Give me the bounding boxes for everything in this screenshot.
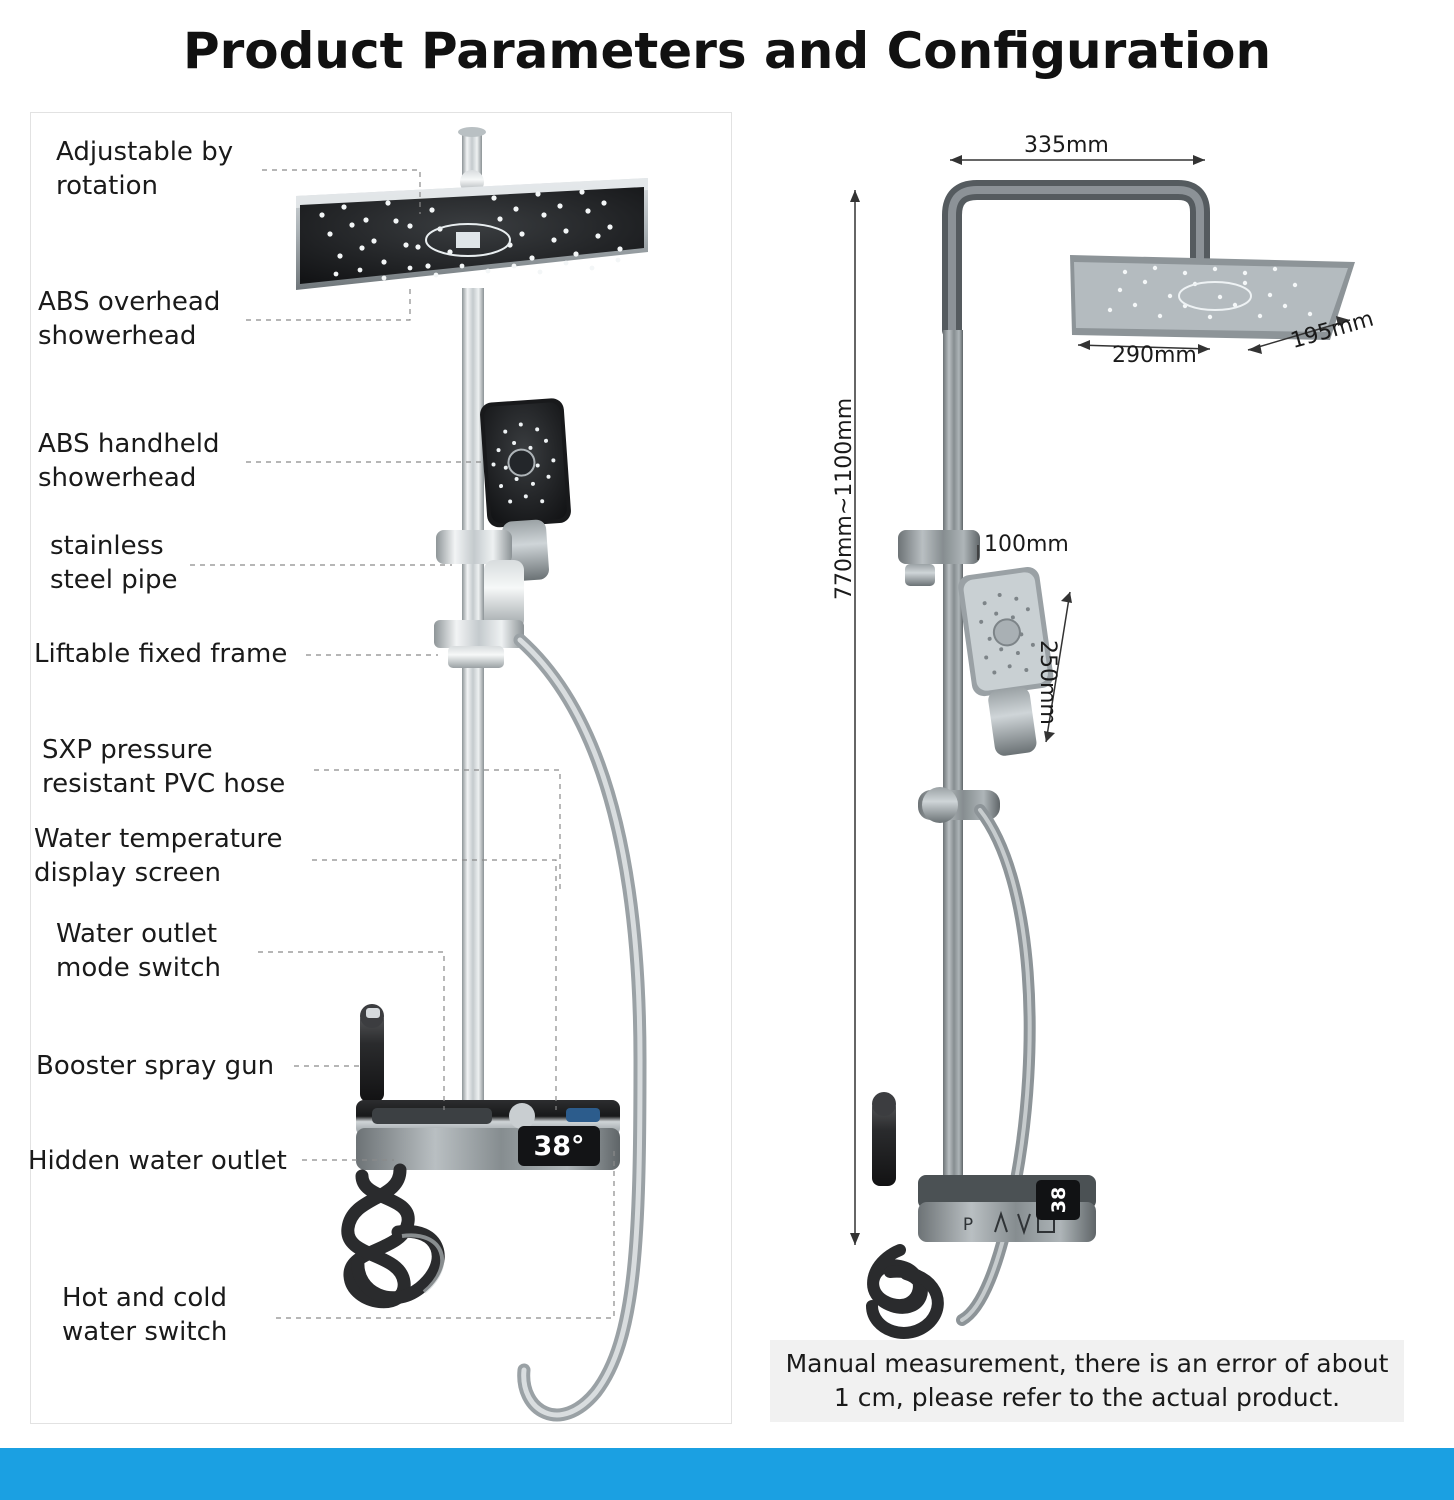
dimension-overhead-head-depth: 195mm (1288, 307, 1376, 354)
page-title: Product Parameters and Configuration (0, 22, 1454, 80)
callout-booster-spray-gun: Booster spray gun (36, 1050, 306, 1084)
dimension-total-height-range: 770mm~1100mm (832, 398, 857, 600)
callout-hidden-water-outlet: Hidden water outlet (28, 1145, 308, 1179)
measurement-note: Manual measurement, there is an error of… (770, 1340, 1404, 1422)
dimension-overhead-arm-reach: 335mm (1024, 133, 1109, 158)
measurement-note-text: Manual measurement, there is an error of… (778, 1347, 1396, 1415)
dimension-bracket-offset: 100mm (984, 532, 1069, 557)
callout-hot-and-cold-water-switch: Hot and cold water switch (62, 1282, 302, 1350)
callout-sxp-pressure-resistant-pvc-hose: SXP pressure resistant PVC hose (42, 734, 322, 802)
callout-adjustable-by-rotation: Adjustable by rotation (56, 136, 266, 204)
callout-water-outlet-mode-switch: Water outlet mode switch (56, 918, 276, 986)
callout-abs-overhead-showerhead: ABS overhead showerhead (38, 286, 258, 354)
page-root: Product Parameters and Configuration (0, 0, 1454, 1500)
callout-abs-handheld-showerhead: ABS handheld showerhead (38, 428, 258, 496)
svg-text:38: 38 (1048, 1187, 1070, 1213)
callout-liftable-fixed-frame: Liftable fixed frame (34, 638, 324, 672)
svg-text:P: P (963, 1215, 973, 1235)
bottom-accent-bar (0, 1448, 1454, 1500)
callout-stainless-steel-pipe: stainless steel pipe (50, 530, 220, 598)
top-white-band (0, 0, 1454, 14)
dimension-handheld-length: 250mm (1035, 640, 1060, 725)
dimension-overhead-head-width: 290mm (1112, 343, 1197, 368)
callout-water-temperature-display-screen: Water temperature display screen (34, 823, 324, 891)
